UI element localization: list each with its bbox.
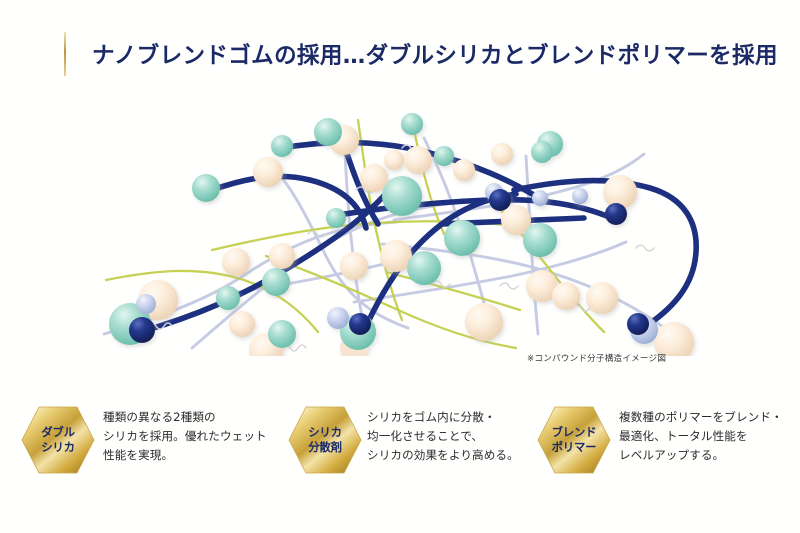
description-line-3: レベルアップする。 [619, 446, 783, 465]
description-line-2: 均一化させることで、 [367, 427, 519, 446]
description-line-1: 複数種のポリマーをブレンド・ [619, 408, 783, 427]
description-line-3: シリカの効果をより高める。 [367, 446, 519, 465]
slide-root: 1 ナノブレンドゴムの採用…ダブルシリカとブレンドポリマーを採用 [0, 0, 800, 533]
feature-description-blend-polymer: 複数種のポリマーをブレンド・ 最適化、トータル性能を レベルアップする。 [619, 408, 783, 464]
description-line-2: シリカを採用。優れたウェット [103, 427, 267, 446]
hex-badge-blend-polymer [537, 405, 611, 475]
slide-number: 1 [0, 32, 60, 76]
description-line-3: 性能を実現。 [103, 446, 267, 465]
slide-header: 1 ナノブレンドゴムの採用…ダブルシリカとブレンドポリマーを採用 [0, 24, 800, 84]
description-line-1: 種類の異なる2種類の [103, 408, 267, 427]
feature-description-double-silica: 種類の異なる2種類の シリカを採用。優れたウェット 性能を実現。 [103, 408, 267, 464]
molecular-structure-figure [96, 96, 704, 356]
feature-description-silica-dispersant: シリカをゴム内に分散・ 均一化させることで、 シリカの効果をより高める。 [367, 408, 519, 464]
header-divider [64, 32, 66, 76]
molecule-diagram [96, 96, 704, 356]
description-line-1: シリカをゴム内に分散・ [367, 408, 519, 427]
description-line-2: 最適化、トータル性能を [619, 427, 783, 446]
feature-row: ダブル シリカ 種類の異なる2種類の シリカを採用。優れたウェット 性能を実現。… [0, 398, 800, 488]
page-title: ナノブレンドゴムの採用…ダブルシリカとブレンドポリマーを採用 [92, 38, 778, 70]
figure-caption: ※コンパウンド分子構造イメージ図 [527, 352, 666, 364]
hex-badge-double-silica [21, 405, 95, 475]
hex-badge-silica-dispersant [288, 405, 362, 475]
